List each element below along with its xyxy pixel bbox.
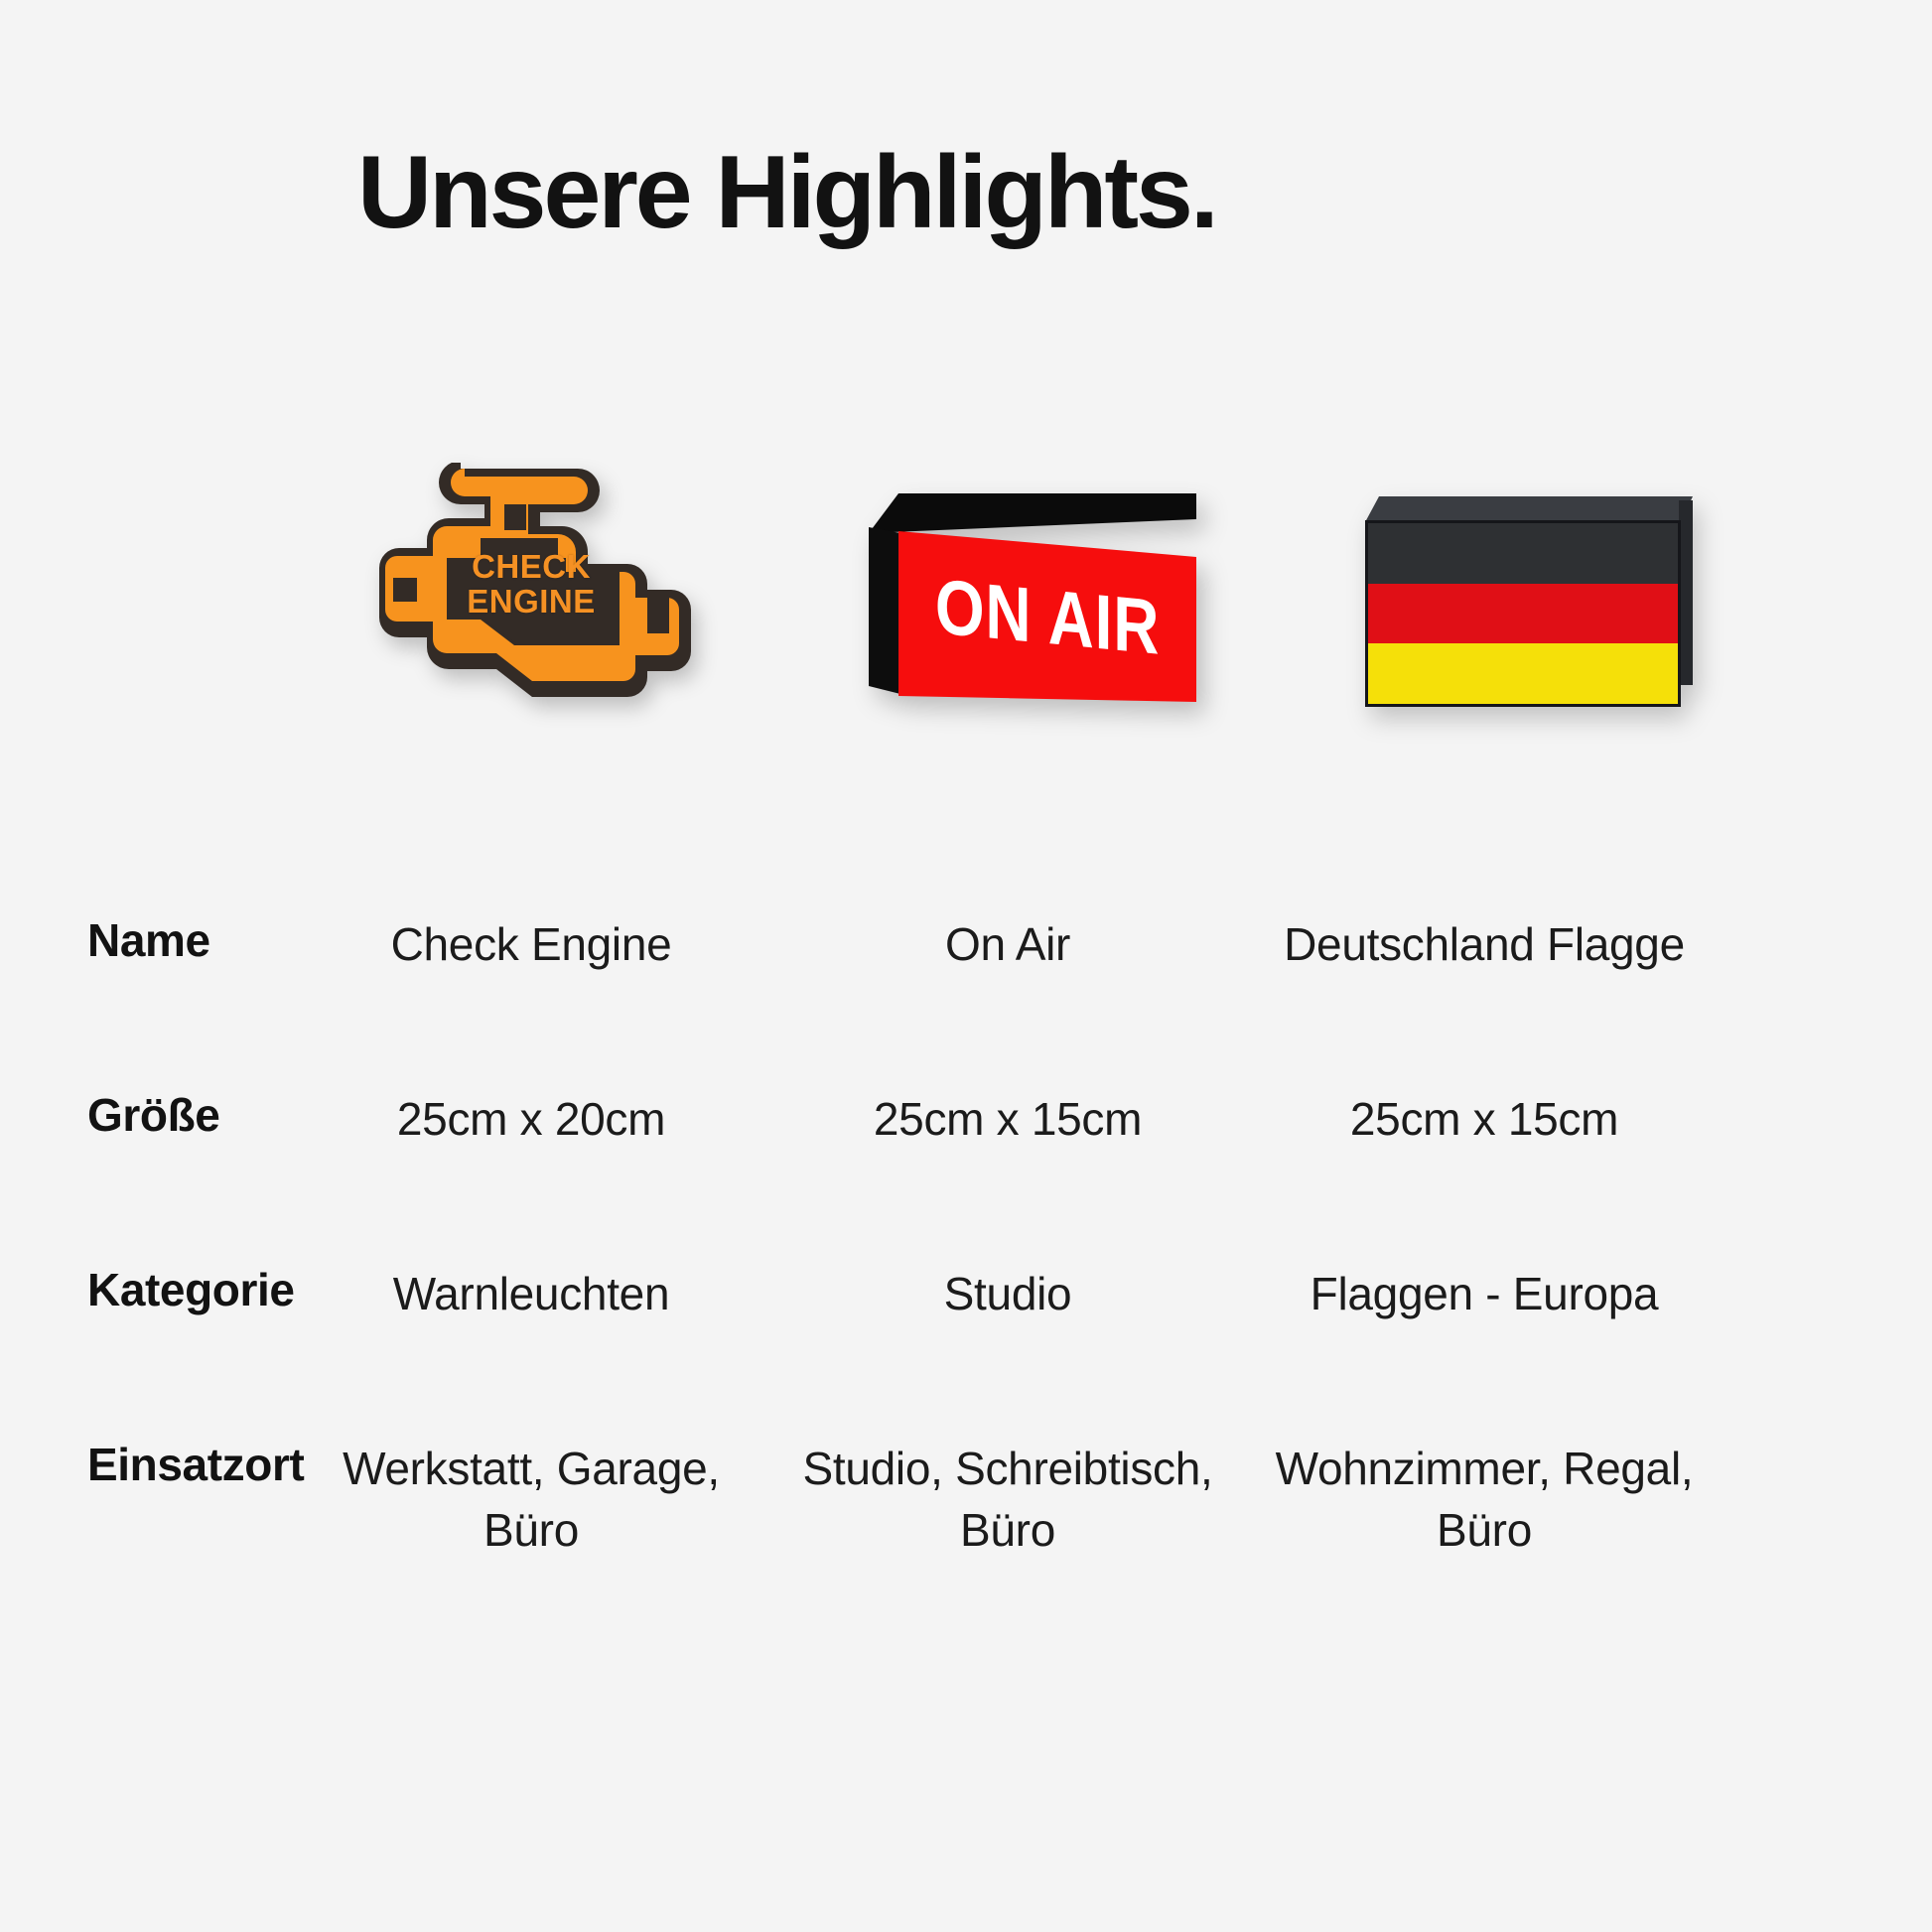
on-air-box-face: ON AIR (898, 531, 1196, 702)
product-image-row: CHECK ENGINE ON AIR (0, 427, 1932, 725)
cell-einsatzort-deutschland-flagge: Wohnzimmer, Regal, Büro (1266, 1438, 1703, 1561)
cell-groesse-deutschland-flagge: 25cm x 15cm (1266, 1088, 1703, 1150)
product-image-on-air[interactable]: ON AIR (784, 427, 1281, 725)
spec-table: Name Check Engine On Air Deutschland Fla… (0, 913, 1932, 1646)
flag-box-side (1679, 500, 1693, 685)
cell-kategorie-deutschland-flagge: Flaggen - Europa (1266, 1263, 1703, 1324)
cell-kategorie-on-air: Studio (789, 1263, 1226, 1324)
on-air-lightbox-icon: ON AIR (869, 493, 1196, 707)
on-air-box-top (869, 493, 1196, 533)
deutschland-flagge-icon (1365, 496, 1693, 707)
check-engine-lamp-icon: CHECK ENGINE (357, 463, 705, 713)
product-image-deutschland-flagge[interactable] (1281, 427, 1777, 725)
cell-kategorie-check-engine: Warnleuchten (313, 1263, 750, 1324)
cell-einsatzort-check-engine: Werkstatt, Garage, Büro (313, 1438, 750, 1561)
flag-box-face (1365, 520, 1681, 707)
on-air-text: ON AIR (935, 561, 1160, 673)
cell-groesse-check-engine: 25cm x 20cm (313, 1088, 750, 1150)
table-row: Einsatzort Werkstatt, Garage, Büro Studi… (0, 1438, 1932, 1646)
table-row: Kategorie Warnleuchten Studio Flaggen - … (0, 1263, 1932, 1438)
table-row: Größe 25cm x 20cm 25cm x 15cm 25cm x 15c… (0, 1088, 1932, 1263)
cell-name-deutschland-flagge: Deutschland Flagge (1266, 913, 1703, 975)
cell-name-on-air: On Air (789, 913, 1226, 975)
table-row: Name Check Engine On Air Deutschland Fla… (0, 913, 1932, 1088)
cell-groesse-on-air: 25cm x 15cm (789, 1088, 1226, 1150)
on-air-box-side (869, 527, 900, 694)
cell-einsatzort-on-air: Studio, Schreibtisch, Büro (789, 1438, 1226, 1561)
cell-name-check-engine: Check Engine (313, 913, 750, 975)
product-image-check-engine[interactable]: CHECK ENGINE (283, 427, 779, 725)
flag-band-red (1368, 584, 1678, 644)
page-title: Unsere Highlights. (357, 139, 1216, 247)
flag-band-gold (1368, 643, 1678, 704)
flag-band-black (1368, 523, 1678, 584)
flag-box-top (1365, 496, 1693, 522)
